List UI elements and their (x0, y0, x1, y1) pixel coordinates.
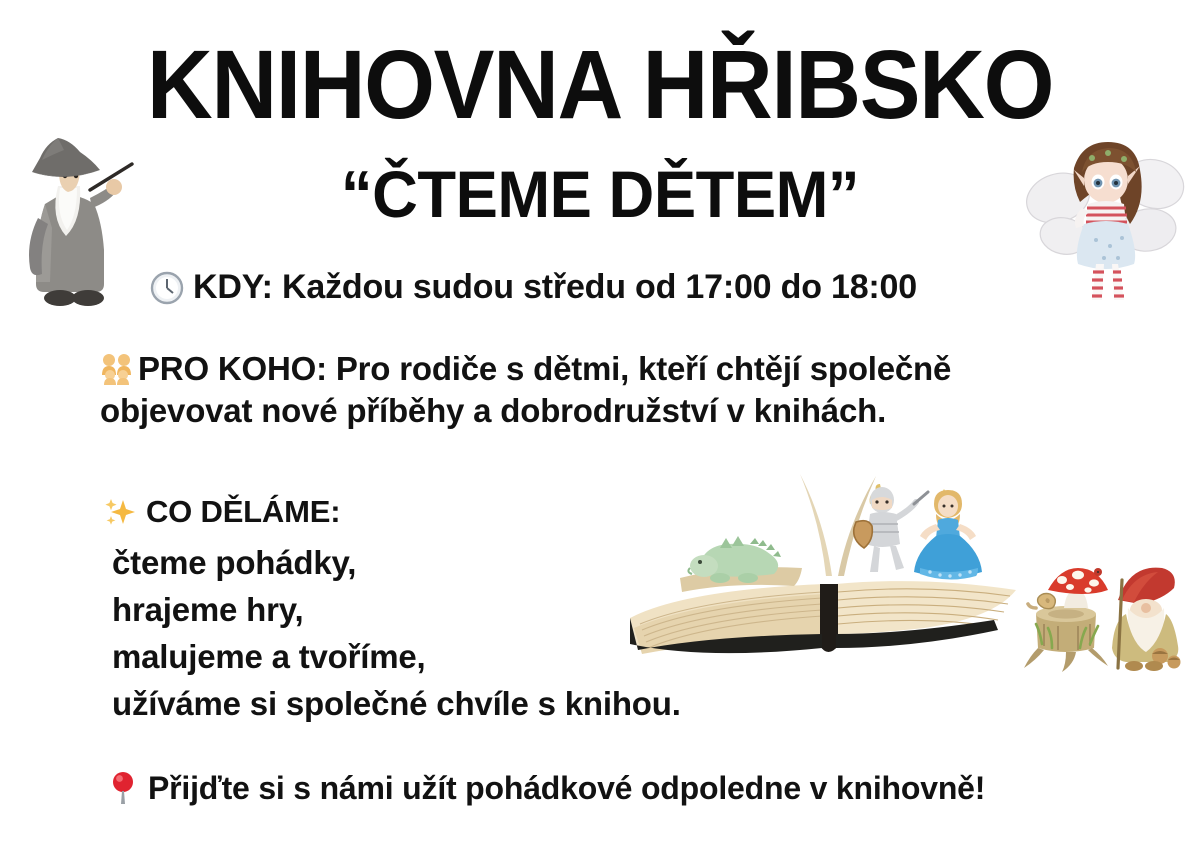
family-icon (100, 353, 134, 385)
list-item: hrajeme hry, (112, 587, 681, 634)
when-text: KDY: Každou sudou středu od 17:00 do 18:… (193, 266, 917, 310)
gnome-mushroom-illustration (1022, 556, 1194, 674)
list-item: čteme pohádky, (112, 540, 681, 587)
wizard-illustration (14, 132, 136, 310)
invitation-text: Přijďte si s námi užít pohádkové odpoled… (148, 768, 985, 809)
list-item: užíváme si společné chvíle s knihou. (112, 681, 681, 728)
pushpin-icon (110, 771, 136, 805)
invitation-line: Přijďte si s námi užít pohádkové odpoled… (110, 768, 985, 809)
open-book-illustration (624, 468, 1024, 668)
clock-icon (150, 271, 184, 305)
activities-list: čteme pohádky, hrajeme hry, malujeme a t… (112, 540, 681, 727)
page-title: KNIHOVNA HŘIBSKO (36, 36, 1164, 135)
list-item: malujeme a tvoříme, (112, 634, 681, 681)
who-line-1: PRO KOHO: Pro rodiče s dětmi, kteří chtě… (138, 350, 951, 387)
when-line: KDY: Každou sudou středu od 17:00 do 18:… (150, 266, 1050, 310)
who-block: PRO KOHO: Pro rodiče s dětmi, kteří chtě… (100, 348, 1060, 432)
who-line-2: objevovat nové příběhy a dobrodružství v… (100, 390, 1060, 432)
sparkles-icon (104, 496, 136, 528)
poster-canvas: KNIHOVNA HŘIBSKO “ČTEME DĚTEM” (0, 0, 1200, 848)
activities-heading-row: CO DĚLÁME: (104, 492, 340, 532)
page-subtitle: “ČTEME DĚTEM” (24, 160, 1176, 229)
activities-heading: CO DĚLÁME: (146, 492, 340, 532)
